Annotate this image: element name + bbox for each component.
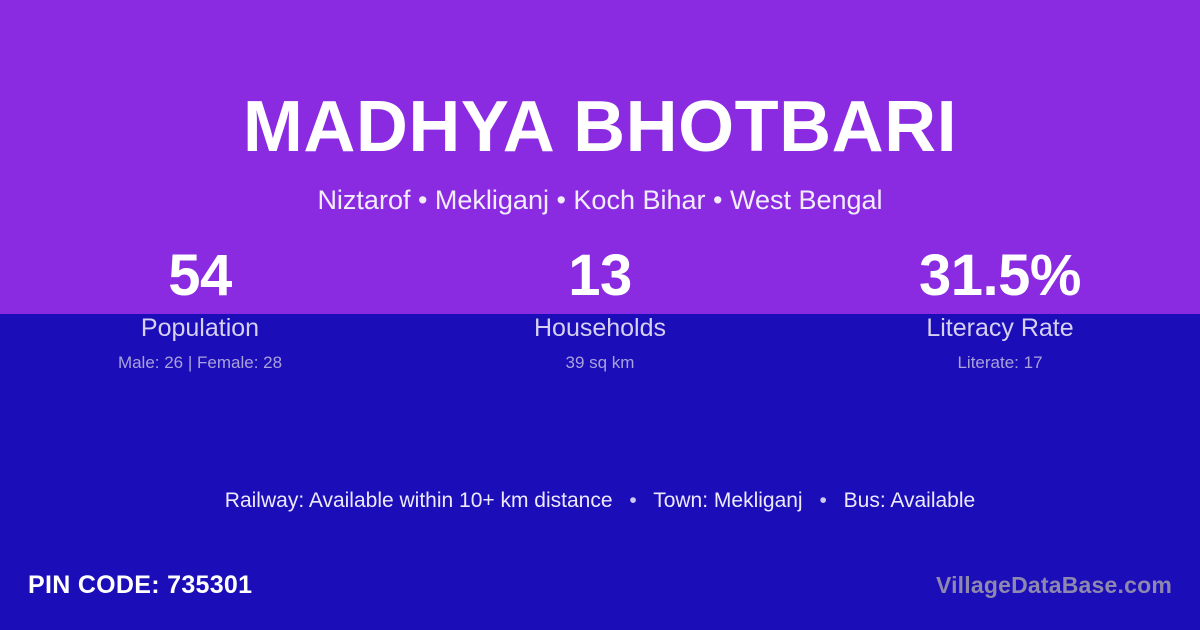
stat-literacy-rate: 31.5% Literacy Rate Literate: 17 xyxy=(800,243,1200,373)
breadcrumb: Niztarof • Mekliganj • Koch Bihar • West… xyxy=(0,183,1200,217)
village-info-card: MADHYA BHOTBARI Niztarof • Mekliganj • K… xyxy=(0,0,1200,630)
amenity-separator-icon: • xyxy=(618,489,647,512)
stat-population-value: 54 xyxy=(0,243,400,309)
page-title: MADHYA BHOTBARI xyxy=(0,85,1200,169)
amenity-town: Town: Mekliganj xyxy=(653,489,802,512)
brand-watermark: VillageDataBase.com xyxy=(936,571,1172,599)
stat-population-label: Population xyxy=(0,313,400,343)
amenity-separator-icon: • xyxy=(808,489,837,512)
stat-households-value: 13 xyxy=(400,243,800,309)
stat-literacy-rate-value: 31.5% xyxy=(800,243,1200,309)
pin-code: PIN CODE: 735301 xyxy=(28,570,252,600)
stat-literacy-rate-label: Literacy Rate xyxy=(800,313,1200,343)
stat-literacy-rate-literate: Literate: 17 xyxy=(800,352,1200,373)
stat-households-area: 39 sq km xyxy=(400,352,800,373)
card-footer: PIN CODE: 735301 VillageDataBase.com xyxy=(0,554,1200,630)
stat-households: 13 Households 39 sq km xyxy=(400,243,800,373)
stat-population-breakdown: Male: 26 | Female: 28 xyxy=(0,352,400,373)
amenities-line: Railway: Available within 10+ km distanc… xyxy=(0,487,1200,514)
amenity-railway: Railway: Available within 10+ km distanc… xyxy=(225,489,613,512)
stat-population: 54 Population Male: 26 | Female: 28 xyxy=(0,243,400,373)
amenity-bus: Bus: Available xyxy=(844,489,976,512)
stats-row: 54 Population Male: 26 | Female: 28 13 H… xyxy=(0,243,1200,373)
stat-households-label: Households xyxy=(400,313,800,343)
